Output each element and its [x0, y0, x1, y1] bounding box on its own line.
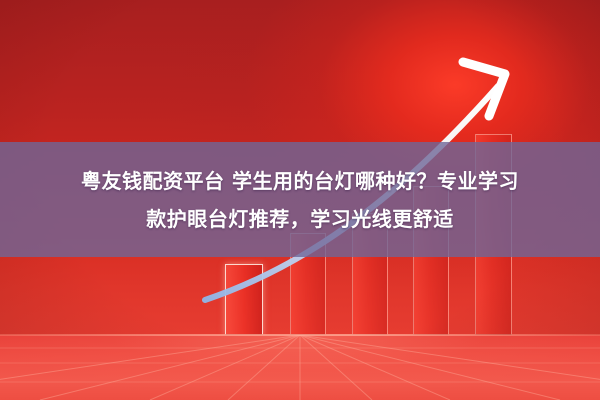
- headline-line-2: 款护眼台灯推荐，学习光线更舒适: [0, 200, 600, 238]
- perspective-grid-floor: [0, 335, 600, 400]
- floor-horizon-line: [0, 334, 600, 336]
- headline-band: 粤友钱配资平台 学生用的台灯哪种好？专业学习 款护眼台灯推荐，学习光线更舒适: [0, 142, 600, 257]
- banner-image: 粤友钱配资平台 学生用的台灯哪种好？专业学习 款护眼台灯推荐，学习光线更舒适: [0, 0, 600, 400]
- headline-line-1: 粤友钱配资平台 学生用的台灯哪种好？专业学习: [0, 162, 600, 200]
- floor-grid-lines: [0, 335, 600, 400]
- headline-text: 粤友钱配资平台 学生用的台灯哪种好？专业学习 款护眼台灯推荐，学习光线更舒适: [0, 162, 600, 238]
